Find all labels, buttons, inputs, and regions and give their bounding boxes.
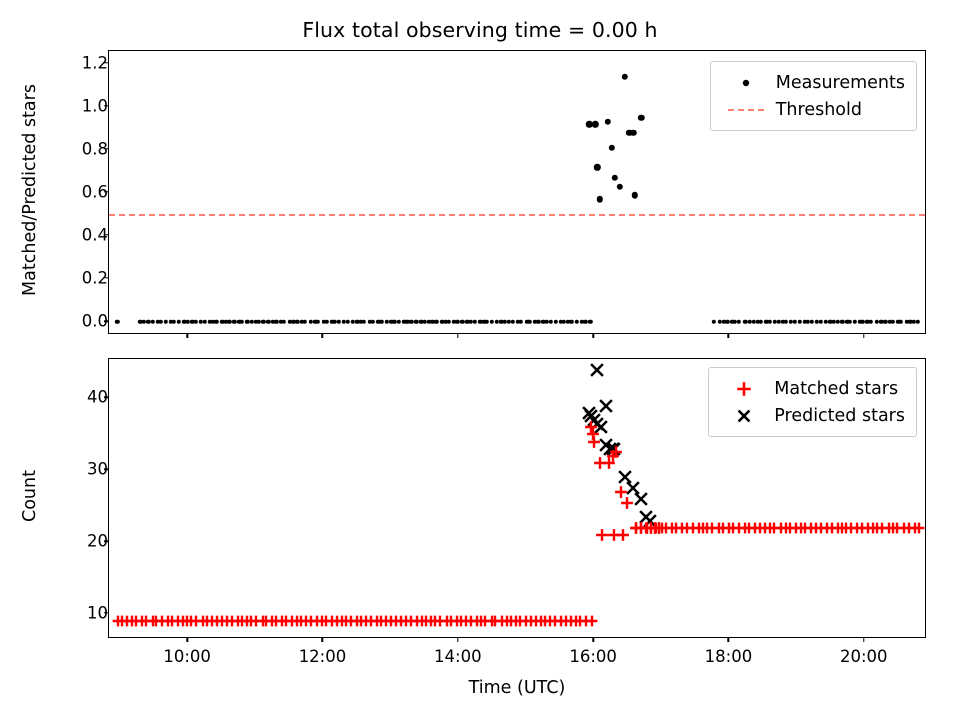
data-point-measurement — [362, 320, 366, 324]
matched-star-plus-icon — [718, 380, 770, 398]
data-point-measurement — [434, 320, 438, 324]
bottom-panel-legend[interactable]: Matched stars Predicted stars — [708, 367, 917, 437]
data-point-measurement — [115, 320, 119, 324]
threshold-line — [109, 214, 925, 216]
data-point-measurement — [164, 320, 168, 324]
data-point-measurement — [490, 320, 494, 324]
data-point-measurement — [638, 114, 644, 120]
x-tick-mark — [457, 334, 458, 338]
data-point-measurement — [621, 74, 627, 80]
data-point-measurement — [302, 320, 306, 324]
x-tick-mark — [592, 334, 593, 338]
data-point-matched-star — [596, 528, 609, 541]
data-point-measurement — [609, 145, 615, 151]
data-point-matched-star — [620, 496, 633, 509]
threshold-dashed-line-icon — [720, 109, 772, 111]
data-point-measurement — [759, 320, 763, 324]
x-tick-label: 12:00 — [299, 647, 347, 666]
data-point-measurement — [485, 320, 489, 324]
data-point-measurement — [549, 320, 553, 324]
data-point-measurement — [592, 121, 598, 127]
x-tick-mark — [186, 334, 187, 338]
measurement-dot-icon — [720, 77, 772, 89]
data-point-measurement — [852, 320, 856, 324]
data-point-measurement — [409, 320, 413, 324]
figure-canvas: Flux total observing time = 0.00 h Match… — [0, 0, 960, 720]
data-point-measurement — [612, 175, 618, 181]
data-point-measurement — [414, 320, 418, 324]
data-point-measurement — [337, 320, 341, 324]
data-point-measurement — [768, 320, 772, 324]
x-tick-mark — [728, 638, 729, 642]
data-point-measurement — [604, 119, 610, 125]
y-tick-label: 0.8 — [0, 139, 117, 158]
data-point-measurement — [554, 320, 558, 324]
x-tick-mark — [592, 638, 593, 642]
data-point-measurement — [346, 320, 350, 324]
data-point-measurement — [916, 320, 920, 324]
data-point-measurement — [569, 320, 573, 324]
x-tick-mark — [863, 638, 864, 642]
data-point-measurement — [232, 320, 236, 324]
data-point-measurement — [379, 320, 383, 324]
x-tick-mark — [728, 334, 729, 338]
predicted-star-cross-icon — [718, 407, 770, 425]
data-point-measurement — [510, 320, 514, 324]
x-tick-mark — [457, 638, 458, 642]
data-point-measurement — [798, 320, 802, 324]
data-point-measurement — [630, 130, 636, 136]
x-tick-label: 14:00 — [434, 647, 482, 666]
data-point-measurement — [447, 320, 451, 324]
data-point-measurement — [396, 320, 400, 324]
y-tick-label: 20 — [0, 532, 117, 551]
data-point-measurement — [583, 320, 587, 324]
data-point-measurement — [151, 320, 155, 324]
y-tick-label: 10 — [0, 603, 117, 622]
y-tick-label: 40 — [0, 388, 117, 407]
legend-entry-threshold[interactable]: Threshold — [720, 96, 905, 123]
data-point-measurement — [455, 320, 459, 324]
data-point-measurement — [261, 320, 265, 324]
data-point-matched-star — [586, 615, 598, 627]
data-point-measurement — [315, 320, 319, 324]
y-tick-label: 0.0 — [0, 312, 117, 331]
data-point-measurement — [594, 164, 600, 170]
data-point-matched-star — [616, 528, 629, 541]
data-point-measurement — [473, 320, 477, 324]
y-tick-label: 30 — [0, 460, 117, 479]
data-point-measurement — [725, 320, 729, 324]
x-axis-label: Time (UTC) — [108, 678, 926, 698]
x-tick-mark — [863, 334, 864, 338]
y-tick-label: 1.2 — [0, 53, 117, 72]
figure-title: Flux total observing time = 0.00 h — [0, 18, 960, 42]
data-point-measurement — [159, 320, 163, 324]
data-point-measurement — [519, 320, 523, 324]
x-tick-label: 20:00 — [840, 647, 888, 666]
data-point-predicted-star — [634, 492, 649, 507]
x-tick-label: 10:00 — [163, 647, 211, 666]
data-point-measurement — [632, 192, 638, 198]
y-tick-label: 1.0 — [0, 96, 117, 115]
data-point-measurement — [536, 320, 540, 324]
data-point-predicted-star — [599, 398, 614, 413]
x-tick-label: 18:00 — [705, 647, 753, 666]
data-point-measurement — [596, 196, 602, 202]
x-tick-label: 16:00 — [569, 647, 617, 666]
data-point-measurement — [840, 320, 844, 324]
legend-label-threshold: Threshold — [772, 100, 862, 120]
data-point-measurement — [527, 320, 531, 324]
data-point-measurement — [784, 320, 788, 324]
data-point-measurement — [899, 320, 903, 324]
data-point-measurement — [575, 320, 579, 324]
data-point-measurement — [860, 320, 864, 324]
data-point-measurement — [792, 320, 796, 324]
y-tick-label: 0.6 — [0, 183, 117, 202]
y-tick-label: 0.2 — [0, 269, 117, 288]
data-point-measurement — [214, 320, 218, 324]
data-point-measurement — [227, 320, 231, 324]
data-point-measurement — [737, 320, 741, 324]
data-point-matched-star — [609, 446, 622, 459]
x-tick-mark — [322, 334, 323, 338]
data-point-measurement — [266, 320, 270, 324]
data-point-measurement — [176, 320, 180, 324]
data-point-measurement — [193, 320, 197, 324]
data-point-measurement — [711, 320, 715, 324]
data-point-matched-star — [913, 522, 925, 534]
data-point-measurement — [325, 320, 329, 324]
data-point-measurement — [240, 320, 244, 324]
data-point-measurement — [869, 320, 873, 324]
data-point-measurement — [617, 183, 623, 189]
legend-entry-measurements[interactable]: Measurements — [720, 69, 905, 96]
data-point-matched-star — [588, 435, 601, 448]
data-point-measurement — [810, 320, 814, 324]
bottom-panel-axes: Matched stars Predicted stars — [108, 358, 926, 638]
data-point-measurement — [891, 320, 895, 324]
legend-entry-predicted-stars[interactable]: Predicted stars — [718, 402, 905, 429]
x-tick-mark — [186, 638, 187, 642]
legend-entry-matched-stars[interactable]: Matched stars — [718, 375, 905, 402]
y-tick-label: 0.4 — [0, 226, 117, 245]
legend-label-measurements: Measurements — [772, 73, 905, 93]
data-point-measurement — [460, 320, 464, 324]
top-panel-legend[interactable]: Measurements Threshold — [710, 61, 917, 131]
legend-label-predicted-stars: Predicted stars — [770, 406, 905, 426]
x-tick-mark — [322, 638, 323, 642]
data-point-measurement — [588, 320, 592, 324]
data-point-matched-star — [653, 521, 666, 534]
legend-label-matched-stars: Matched stars — [770, 379, 898, 399]
data-point-measurement — [370, 320, 374, 324]
data-point-measurement — [281, 320, 285, 324]
data-point-measurement — [818, 320, 822, 324]
top-panel-axes: Measurements Threshold — [108, 50, 926, 334]
data-point-predicted-star — [590, 362, 605, 377]
